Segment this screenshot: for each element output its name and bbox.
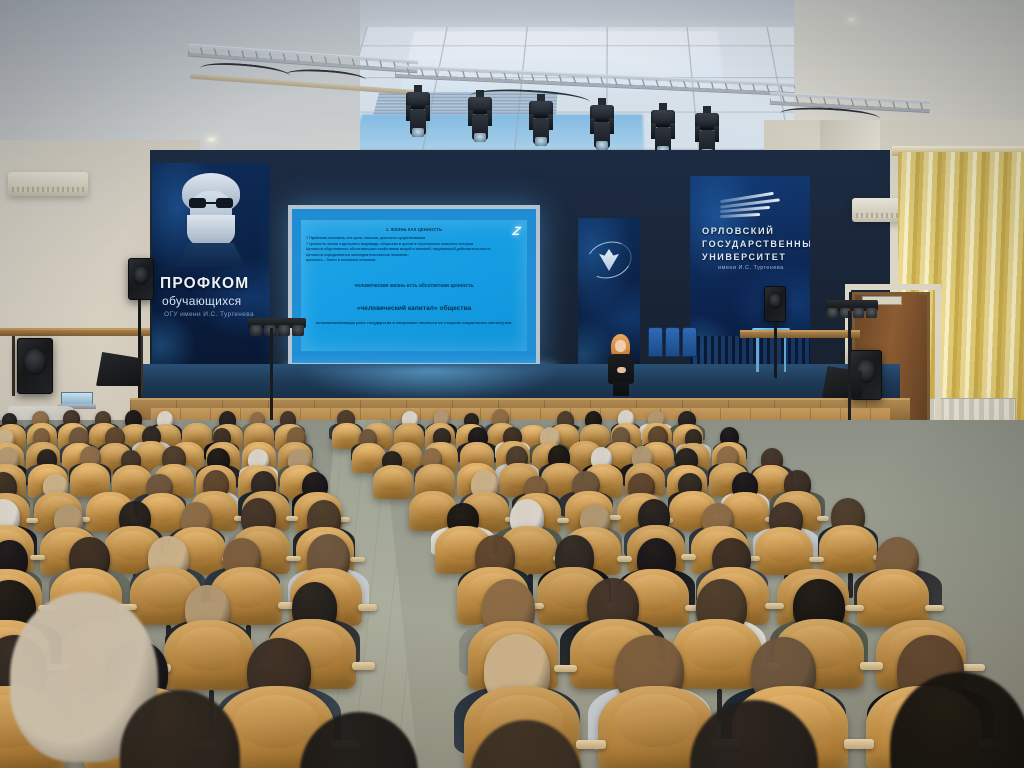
stage-chairs <box>648 327 706 361</box>
slide-title: 1. ЖИЗНЬ КАК ЦЕННОСТЬ <box>301 227 527 232</box>
slide-footer-text: основополагающая роль государства в патр… <box>307 320 521 326</box>
moving-head-light <box>405 92 431 138</box>
seat-armrest <box>809 557 824 562</box>
seat-armrest <box>350 557 365 562</box>
banner-subtitle: обучающихся <box>162 294 241 308</box>
downlight-icon <box>206 136 217 143</box>
slide-bullet: ценность – благо в познании человека <box>306 258 522 264</box>
slide-bullet: Ценности обусловлены объективными свойст… <box>306 247 522 253</box>
lecture-hall-photo: ПРОФКОМ обучающихся ОГУ имени И.С. Турге… <box>0 0 1024 768</box>
pa-speaker <box>128 258 154 300</box>
downlight-icon <box>846 16 857 23</box>
turgenev-portrait-icon <box>174 171 248 263</box>
falcon-emblem-icon <box>586 242 632 278</box>
seat-armrest <box>925 605 944 611</box>
seat-armrest <box>576 740 606 749</box>
projection-screen: Z 1. ЖИЗНЬ КАК ЦЕННОСТЬ ? Проблема челов… <box>288 205 540 367</box>
lighting-stand-mast <box>270 328 273 432</box>
seat-armrest <box>681 554 696 559</box>
stage-light-glow <box>300 366 560 402</box>
seat-armrest <box>352 662 375 670</box>
air-conditioner-icon <box>8 172 88 196</box>
sunglasses-icon <box>189 198 233 208</box>
university-name-line3: УНИВЕРСИТЕТ <box>702 252 786 262</box>
moving-head-light <box>589 105 615 151</box>
seat-armrest <box>817 516 829 521</box>
moving-head-light <box>528 101 554 147</box>
university-name-line1: ОРЛОВСКИЙ <box>702 226 774 236</box>
presenter-hands <box>617 367 626 373</box>
lighting-stand-mast <box>848 311 851 431</box>
pa-speaker <box>764 286 786 322</box>
presenter-legs <box>613 382 629 396</box>
pa-speaker <box>17 338 53 394</box>
seat-armrest <box>845 605 864 611</box>
seat-armrest <box>30 555 45 560</box>
slide-lead-statement: человеческая жизнь есть абсолютная ценно… <box>301 283 527 289</box>
banner-title: ПРОФКОМ <box>160 275 249 293</box>
speaker-stand-pole <box>774 322 777 378</box>
seat-armrest <box>617 556 632 561</box>
university-name-line4: имени И.С. Тургенева <box>718 265 784 271</box>
presentation-slide: Z 1. ЖИЗНЬ КАК ЦЕННОСТЬ ? Проблема челов… <box>301 220 527 351</box>
moving-head-light <box>467 97 493 143</box>
auditorium-seat[interactable] <box>857 569 929 627</box>
slide-bullet-list: ? Проблема человека, его цели, смысла, ц… <box>306 236 522 264</box>
auditorium-seat[interactable] <box>755 527 813 575</box>
slide-key-phrase: «человеческий капитал» общества <box>301 305 527 312</box>
wing-logo-icon <box>720 196 782 220</box>
seat-armrest <box>860 662 883 670</box>
seat-armrest <box>26 518 38 523</box>
seat-armrest <box>286 516 298 521</box>
seat-armrest <box>765 603 784 609</box>
seat-armrest <box>844 739 874 748</box>
auditorium-seat[interactable] <box>819 525 877 573</box>
seat-armrest <box>609 515 621 520</box>
presenter-face <box>615 340 626 352</box>
stage-monitor-wedge <box>822 366 862 398</box>
par-light-bar <box>826 300 878 311</box>
seat-armrest <box>554 665 577 673</box>
university-name-line2: ГОСУДАРСТВЕННЫЙ <box>702 239 810 249</box>
par-light-bar <box>248 318 306 328</box>
stage-monitor-wedge <box>96 352 140 386</box>
side-table-right <box>740 330 860 338</box>
profkom-banner: ПРОФКОМ обучающихся ОГУ имени И.С. Турге… <box>152 163 270 381</box>
auditorium-seat[interactable] <box>164 620 254 690</box>
seat-armrest <box>557 518 569 523</box>
auditorium-seat[interactable] <box>672 619 762 689</box>
presenter-person <box>604 334 638 396</box>
seat-armrest <box>286 556 301 561</box>
auditorium-seat[interactable] <box>373 465 413 499</box>
banner-caption: ОГУ имени И.С. Тургенева <box>164 311 254 318</box>
seat-armrest <box>358 604 377 610</box>
side-table-left <box>0 328 150 336</box>
seat-armrest <box>962 664 985 672</box>
table-leg <box>12 336 15 396</box>
